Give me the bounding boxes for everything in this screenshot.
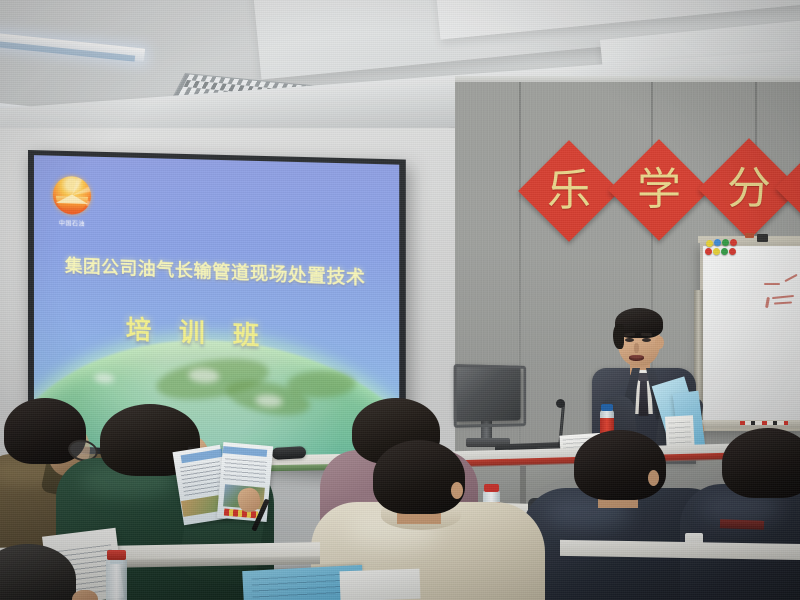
photo-scene: 乐 学 分 中国石油 集团公司油气长输管道现场处置技 [0,0,800,600]
slide-title: 集团公司油气长输管道现场处置技术 [34,251,399,292]
whiteboard-magnet[interactable] [730,239,737,246]
whiteboard-magnet[interactable] [729,248,736,255]
placard-glyph [790,152,800,224]
white-notepad[interactable] [340,569,421,600]
whiteboard-magnet[interactable] [714,239,721,246]
whiteboard-clip[interactable] [745,233,754,238]
whiteboard-magnet[interactable] [721,248,728,255]
presenter-eye [625,338,634,342]
attendee-hand [72,590,98,600]
placard-glyph: 分 [713,153,785,225]
presenter-nose [634,343,639,353]
attendee-hair [722,428,800,498]
presenter-mouth [629,355,644,361]
attendee-hair [574,430,666,500]
water-bottle-cap [601,404,613,411]
attendee-hair [373,440,465,514]
desk-microphone-head[interactable] [556,399,565,408]
wall-placard-le: 乐 [518,140,620,242]
whiteboard-markers[interactable] [740,421,788,425]
presenter-hair [613,324,624,349]
brochure-text-lines [180,461,224,497]
attendee-dark-suit-right [700,428,800,600]
water-bottle-cap [107,550,126,560]
presenter-eye [642,338,651,342]
whiteboard-clip[interactable] [757,234,768,242]
whiteboard[interactable] [700,243,800,431]
attendee-ear [648,470,659,486]
whiteboard-magnet[interactable] [713,248,720,255]
presenter-ear [655,336,664,349]
logo-caption: 中国石油 [50,218,94,229]
whiteboard-writing [764,283,780,285]
placard-glyph: 乐 [533,155,605,227]
attendee-ear [451,482,463,499]
whiteboard-magnet[interactable] [706,240,713,247]
whiteboard-magnet[interactable] [722,239,729,246]
placard-glyph: 学 [623,154,695,226]
wall-placard-xue: 学 [608,139,710,241]
petrochina-logo: 中国石油 [50,176,94,236]
whiteboard-magnet[interactable] [705,248,712,255]
water-bottle[interactable] [106,558,127,600]
desk-folder [720,519,764,530]
brochure-text-lines [223,458,267,484]
